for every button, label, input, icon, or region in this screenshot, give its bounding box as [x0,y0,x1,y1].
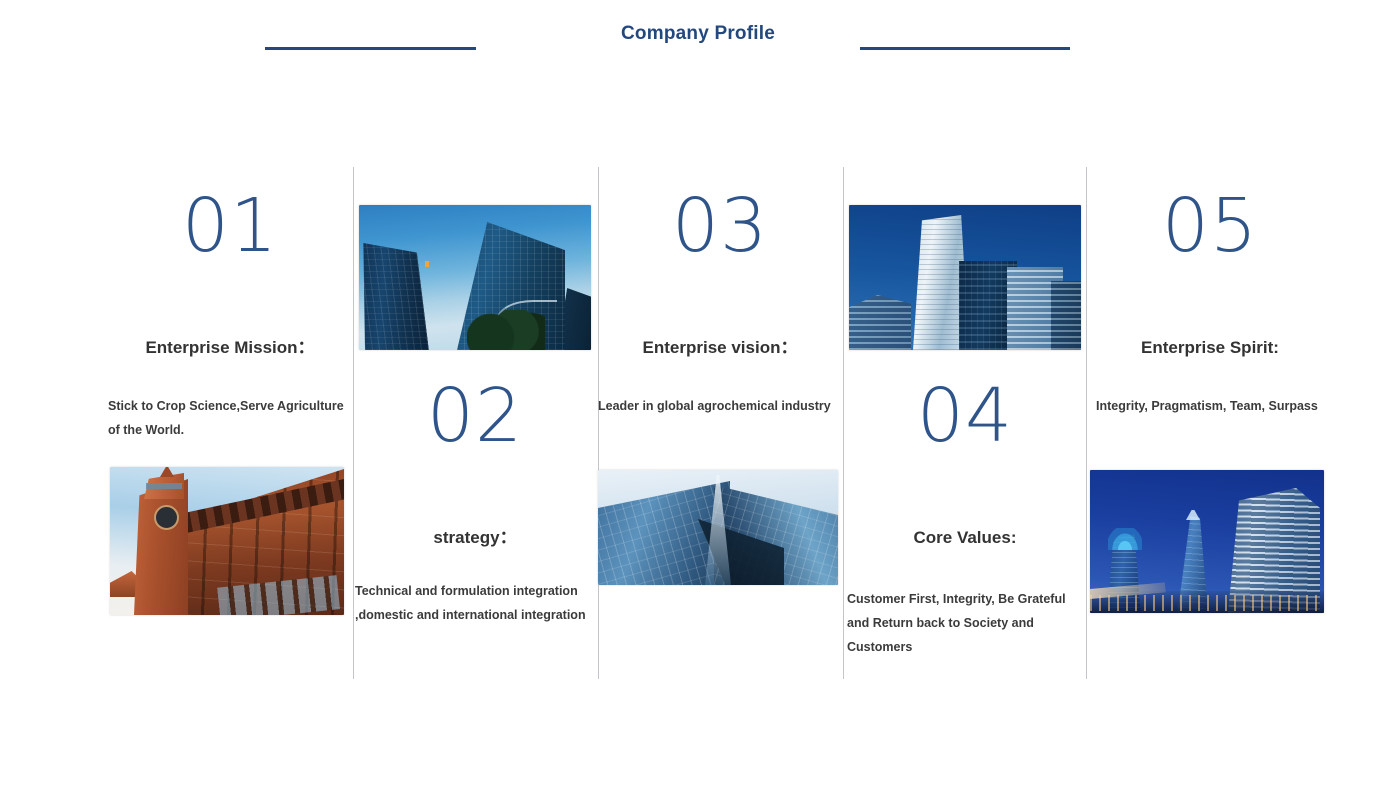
column-description-strategy: Technical and formulation integration ,d… [355,579,593,627]
column-caption-enterprise-vision: Enterprise vision： [598,337,842,359]
column-description-enterprise-mission: Stick to Crop Science,Serve Agriculture … [108,394,346,442]
title-rule-right [860,47,1070,50]
column-description-core-values: Customer First, Integrity, Be Grateful a… [847,587,1087,659]
page-header: Company Profile [0,0,1396,70]
profile-column-4: 04 Core Values: Customer First, Integrit… [843,167,1087,679]
profile-column-3: 03 Enterprise vision： Leader in global a… [598,167,842,679]
column-number-03: 03 [598,189,842,263]
column-caption-core-values: Core Values: [843,527,1087,549]
column-caption-enterprise-spirit: Enterprise Spirit: [1088,337,1332,359]
profile-column-2: 02 strategy： Technical and formulation i… [353,167,597,679]
page-title: Company Profile [0,23,1396,45]
column-number-01: 01 [108,189,352,263]
shanghai-skyline-dusk-photo [1090,470,1324,613]
brick-clock-tower-photo [110,467,344,615]
column-number-04: 04 [843,379,1087,453]
profile-columns: 01 Enterprise Mission： Stick to Crop Sci… [108,167,1328,679]
column-description-enterprise-vision: Leader in global agrochemical industry [598,394,836,418]
column-caption-strategy: strategy： [353,527,597,549]
glass-tower-apex-photo [598,470,838,585]
column-number-02: 02 [353,379,597,453]
column-description-enterprise-spirit: Integrity, Pragmatism, Team, Surpass [1096,394,1334,418]
profile-column-5: 05 Enterprise Spirit: Integrity, Pragmat… [1088,167,1332,679]
title-rule-left [265,47,476,50]
cbd-skyscrapers-photo [849,205,1081,350]
profile-column-1: 01 Enterprise Mission： Stick to Crop Sci… [108,167,352,679]
twin-glass-towers-photo [359,205,591,350]
column-caption-enterprise-mission: Enterprise Mission： [108,337,352,359]
column-number-05: 05 [1088,189,1332,263]
